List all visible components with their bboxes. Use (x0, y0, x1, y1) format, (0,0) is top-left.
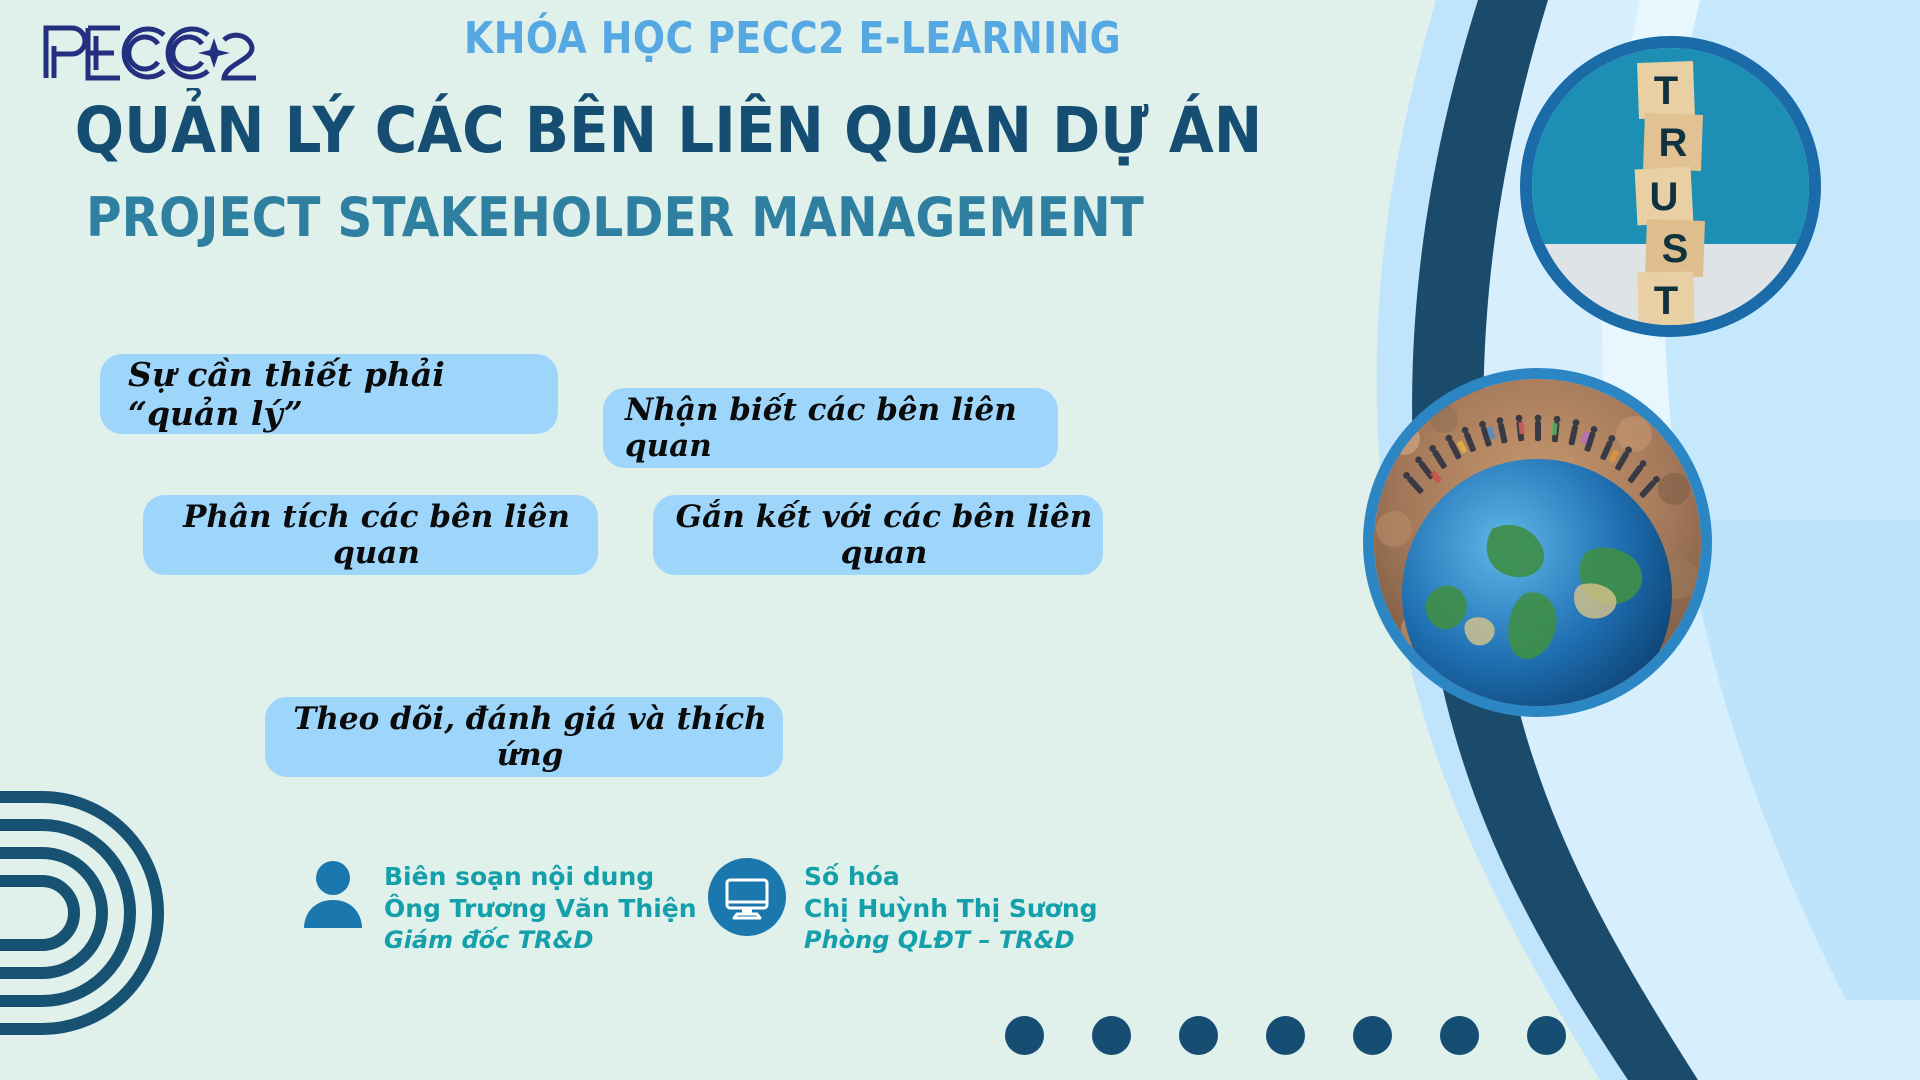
dot (1440, 1016, 1479, 1055)
dot (1266, 1016, 1305, 1055)
svg-text:R: R (1659, 121, 1688, 165)
svg-text:T: T (1654, 69, 1678, 113)
dot (1005, 1016, 1044, 1055)
topic-pill-5-label: Theo dõi, đánh giá và thích ứng (277, 701, 783, 773)
globe-people-photo (1363, 368, 1712, 717)
credit-author: Biên soạn nội dung Ông Trương Văn Thiện … (300, 858, 697, 956)
page-title-vietnamese: QUẢN LÝ CÁC BÊN LIÊN QUAN DỰ ÁN (75, 96, 1105, 165)
trust-blocks-photo: T R U S T (1520, 36, 1821, 337)
credit-digitizer-dept: Phòng QLĐT – TR&D (804, 925, 1098, 956)
credit-digitizer: Số hóa Chị Huỳnh Thị Sương Phòng QLĐT – … (708, 858, 1098, 956)
topic-pill-5[interactable]: Theo dõi, đánh giá và thích ứng (265, 697, 783, 777)
topic-pill-4[interactable]: Gắn kết với các bên liên quan (653, 495, 1103, 575)
monitor-icon (708, 858, 786, 941)
person-icon (300, 858, 366, 935)
dot (1092, 1016, 1131, 1055)
topic-pill-2[interactable]: Nhận biết các bên liên quan (603, 388, 1058, 468)
slide-canvas: KHÓA HỌC PECC2 E-LEARNING QUẢN LÝ CÁC BÊ… (0, 0, 1920, 1080)
concentric-arcs-decoration (0, 763, 200, 1063)
dot (1179, 1016, 1218, 1055)
credit-author-role: Biên soạn nội dung (384, 861, 697, 893)
topic-pill-1-label: Sự cần thiết phải “quản lý” (128, 355, 558, 433)
topic-pill-3[interactable]: Phân tích các bên liên quan (143, 495, 598, 575)
course-kicker: KHÓA HỌC PECC2 E-LEARNING (464, 16, 1066, 62)
svg-text:U: U (1650, 175, 1679, 219)
svg-text:S: S (1662, 227, 1689, 271)
topic-pill-4-label: Gắn kết với các bên liên quan (665, 499, 1103, 571)
topic-pill-1[interactable]: Sự cần thiết phải “quản lý” (100, 354, 558, 434)
credit-digitizer-name: Chị Huỳnh Thị Sương (804, 893, 1098, 925)
topic-pill-2-label: Nhận biết các bên liên quan (625, 392, 1058, 464)
credit-digitizer-role: Số hóa (804, 861, 1098, 893)
credit-author-name: Ông Trương Văn Thiện (384, 893, 697, 925)
topic-pill-3-label: Phân tích các bên liên quan (155, 499, 598, 571)
dot (1527, 1016, 1566, 1055)
dot-row-decoration (1005, 1016, 1566, 1055)
pecc2-logo[interactable] (38, 16, 263, 86)
dot (1353, 1016, 1392, 1055)
svg-text:T: T (1654, 279, 1678, 323)
credit-author-dept: Giám đốc TR&D (384, 925, 697, 956)
page-title-english: PROJECT STAKEHOLDER MANAGEMENT (86, 188, 1094, 247)
